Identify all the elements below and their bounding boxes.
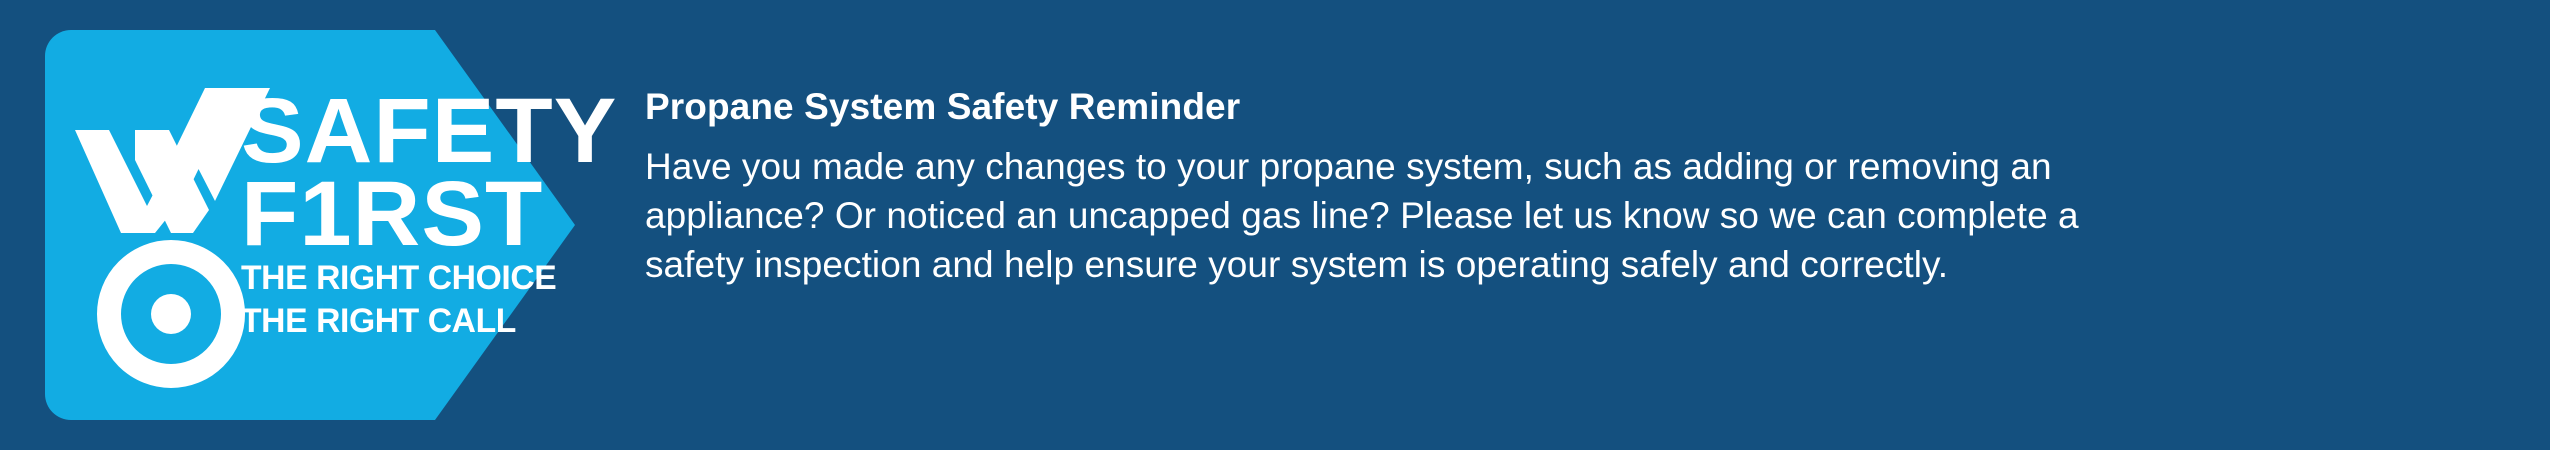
safety-first-badge: SAFETY F1RST THE RIGHT CHOICE THE RIGHT … xyxy=(45,30,575,420)
message-heading: Propane System Safety Reminder xyxy=(645,88,2445,125)
safety-reminder-banner: SAFETY F1RST THE RIGHT CHOICE THE RIGHT … xyxy=(0,0,2550,450)
message-body-line-3: safety inspection and help ensure your s… xyxy=(645,240,2445,289)
badge-tagline-line-2: THE RIGHT CALL xyxy=(241,303,548,340)
bullseye-target-icon xyxy=(97,240,245,388)
badge-contents: SAFETY F1RST THE RIGHT CHOICE THE RIGHT … xyxy=(45,30,575,420)
badge-word-first: F1RST xyxy=(241,175,557,254)
message-body-line-2: appliance? Or noticed an uncapped gas li… xyxy=(645,191,2445,240)
message-block: Propane System Safety Reminder Have you … xyxy=(645,88,2445,290)
badge-wordmark: SAFETY F1RST THE RIGHT CHOICE THE RIGHT … xyxy=(241,92,551,340)
badge-tagline-line-1: THE RIGHT CHOICE xyxy=(241,260,548,297)
message-body-line-1: Have you made any changes to your propan… xyxy=(645,142,2445,191)
badge-word-safety: SAFETY xyxy=(241,92,557,171)
